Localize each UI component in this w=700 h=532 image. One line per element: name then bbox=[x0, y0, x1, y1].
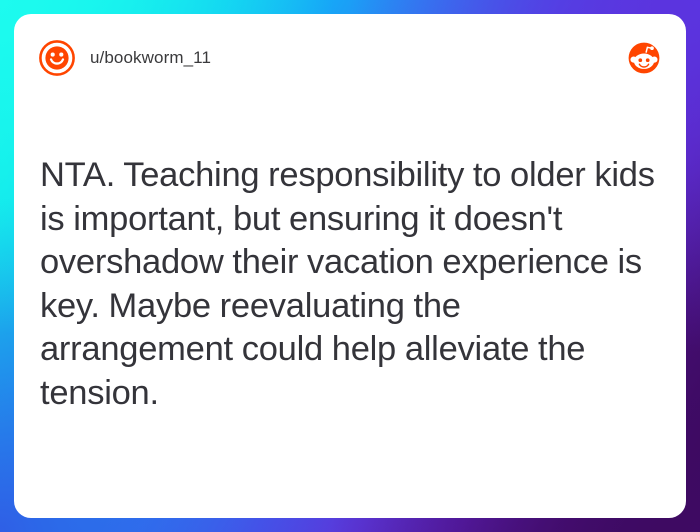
gradient-backdrop: u/bookworm_11 bbox=[0, 0, 700, 532]
post-card: u/bookworm_11 bbox=[14, 14, 686, 518]
username-label: u/bookworm_11 bbox=[90, 48, 211, 68]
reddit-snoo-icon bbox=[628, 42, 660, 74]
avatar[interactable] bbox=[38, 39, 76, 77]
post-header: u/bookworm_11 bbox=[14, 14, 686, 102]
post-text: NTA. Teaching responsibility to older ki… bbox=[40, 154, 658, 415]
smiley-face-icon bbox=[38, 39, 76, 77]
post-body: NTA. Teaching responsibility to older ki… bbox=[14, 154, 686, 415]
brand-logo-link[interactable] bbox=[628, 42, 660, 74]
